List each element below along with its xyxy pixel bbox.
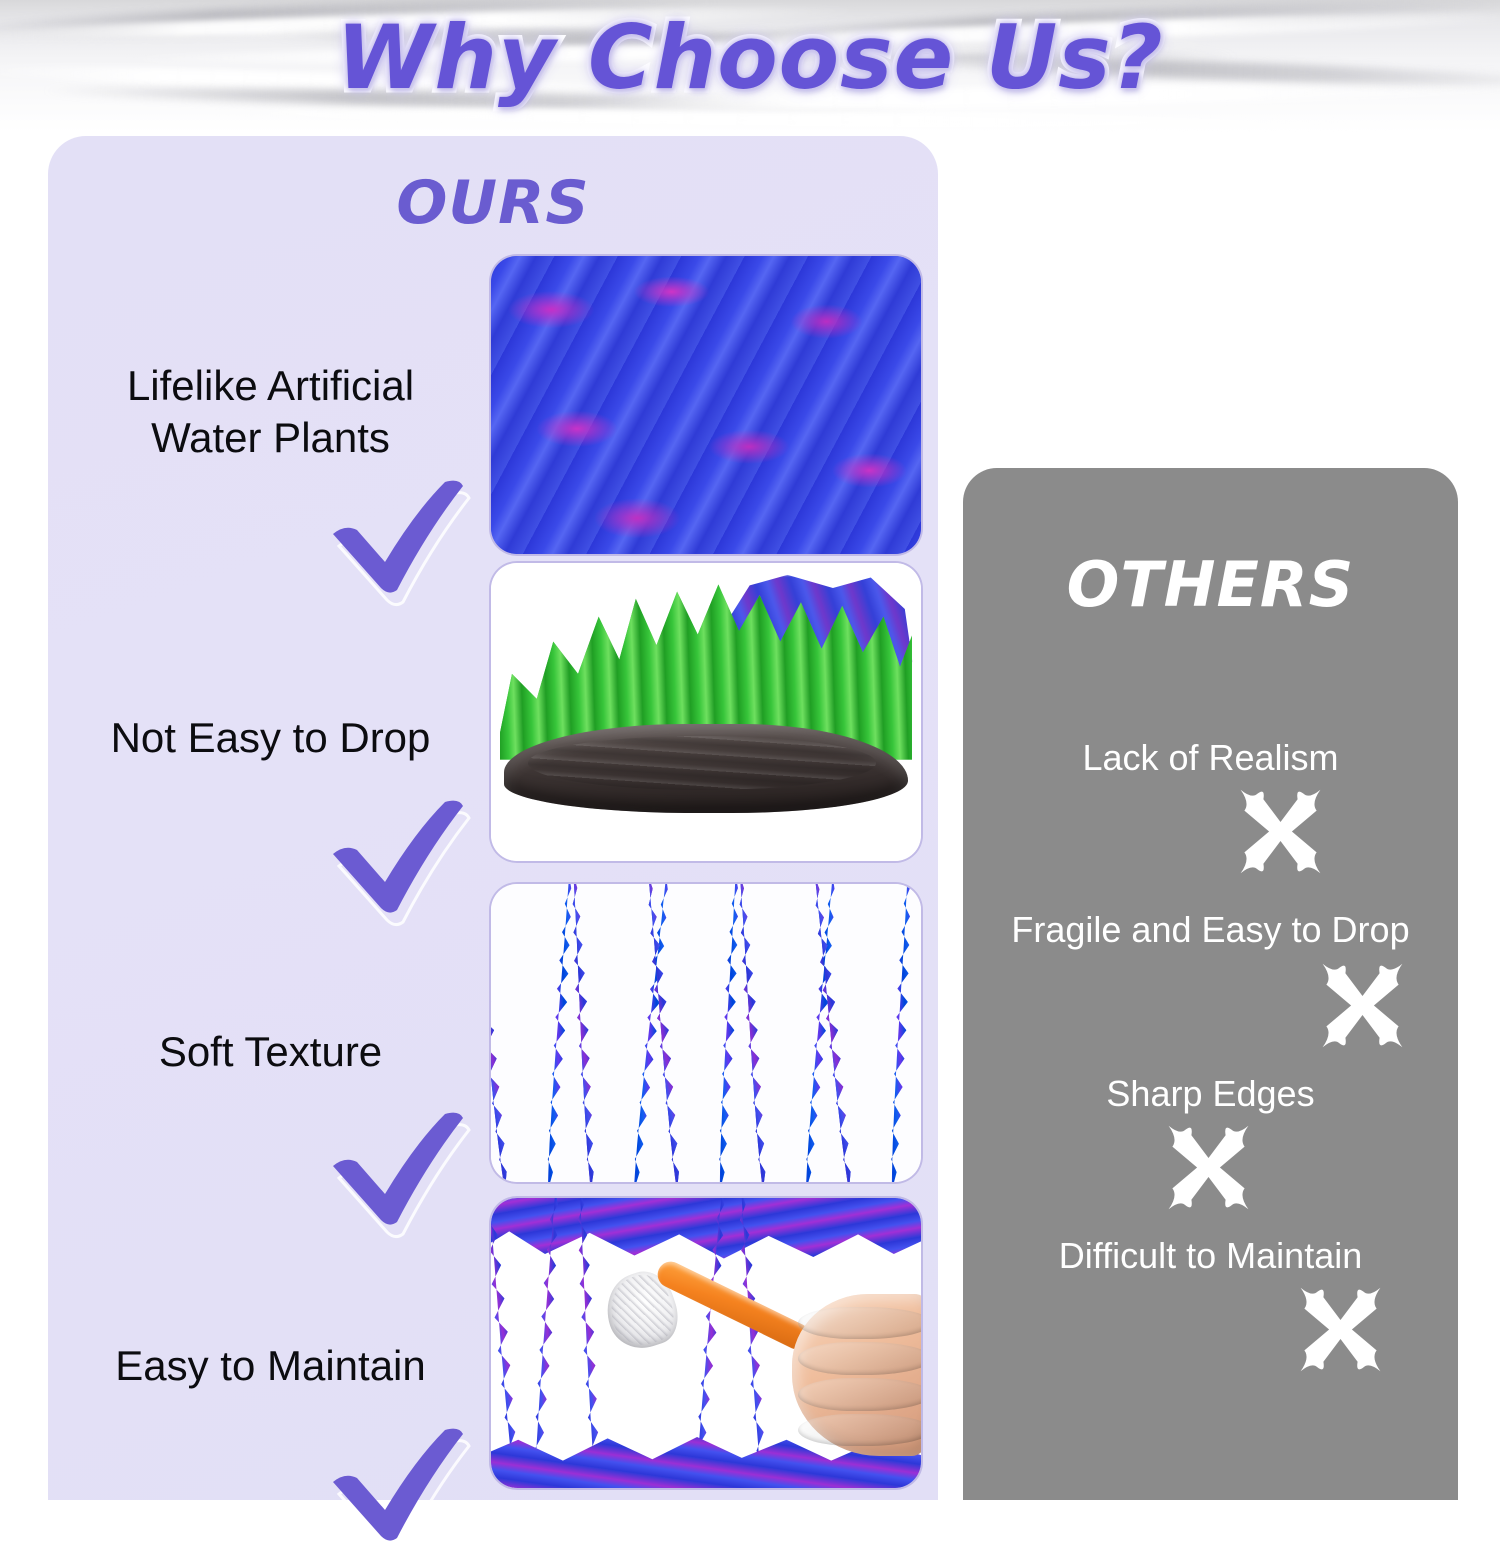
plant-stem <box>702 884 757 1182</box>
others-item-label: Lack of Realism <box>963 736 1458 780</box>
page-title: Why Choose Us? <box>0 6 1500 109</box>
ours-feature-photo <box>491 1198 921 1488</box>
blue-purple-leaves-closeup-image <box>491 256 921 554</box>
ours-feature-label: Soft Texture <box>58 1026 483 1078</box>
ours-feature-photo <box>491 884 921 1182</box>
orange-brush-handle <box>653 1257 811 1352</box>
driftwood-log-base <box>504 724 908 813</box>
finger <box>798 1378 921 1410</box>
ours-feature-photo <box>491 563 921 861</box>
blue-purple-plant-stems-image <box>491 884 921 1182</box>
plant-stem <box>874 884 921 1182</box>
finger <box>798 1414 921 1446</box>
x-mark-icon <box>1315 958 1410 1053</box>
ours-feature-photo <box>491 256 921 554</box>
ours-feature-label: Not Easy to Drop <box>58 712 483 764</box>
check-mark-icon <box>323 1424 473 1544</box>
x-mark-icon <box>1293 1282 1388 1377</box>
finger <box>798 1342 921 1374</box>
human-hand <box>792 1294 921 1456</box>
plant-stem <box>631 884 697 1182</box>
check-mark-icon <box>323 796 473 916</box>
ours-feature-label: Lifelike Artificial Water Plants <box>58 360 483 464</box>
ours-feature-label-line2: Water Plants <box>58 412 483 464</box>
x-mark-icon <box>1233 784 1328 879</box>
green-plants-on-driftwood-base-image <box>491 563 921 861</box>
ours-panel: OURS Lifelike Artificial Water Plants No… <box>48 136 938 1500</box>
others-item-label: Sharp Edges <box>963 1072 1458 1116</box>
finger <box>798 1307 921 1339</box>
ours-feature-label: Easy to Maintain <box>58 1340 483 1392</box>
check-mark-icon <box>323 476 473 596</box>
plant-stem <box>491 884 525 1182</box>
ours-feature-label-line1: Lifelike Artificial <box>58 360 483 412</box>
ours-heading: OURS <box>48 168 938 238</box>
hand-brushing-plants-image <box>491 1198 921 1488</box>
plant-stem <box>788 884 854 1182</box>
others-panel: OTHERS Lack of Realism Fragile and Easy … <box>963 468 1458 1500</box>
others-heading: OTHERS <box>963 548 1458 621</box>
others-item-label: Fragile and Easy to Drop <box>963 908 1458 952</box>
check-mark-icon <box>323 1108 473 1228</box>
plant-stem <box>616 884 687 1182</box>
plant-stem <box>798 884 869 1182</box>
x-mark-icon <box>1161 1120 1256 1215</box>
others-item-label: Difficult to Maintain <box>963 1234 1458 1278</box>
